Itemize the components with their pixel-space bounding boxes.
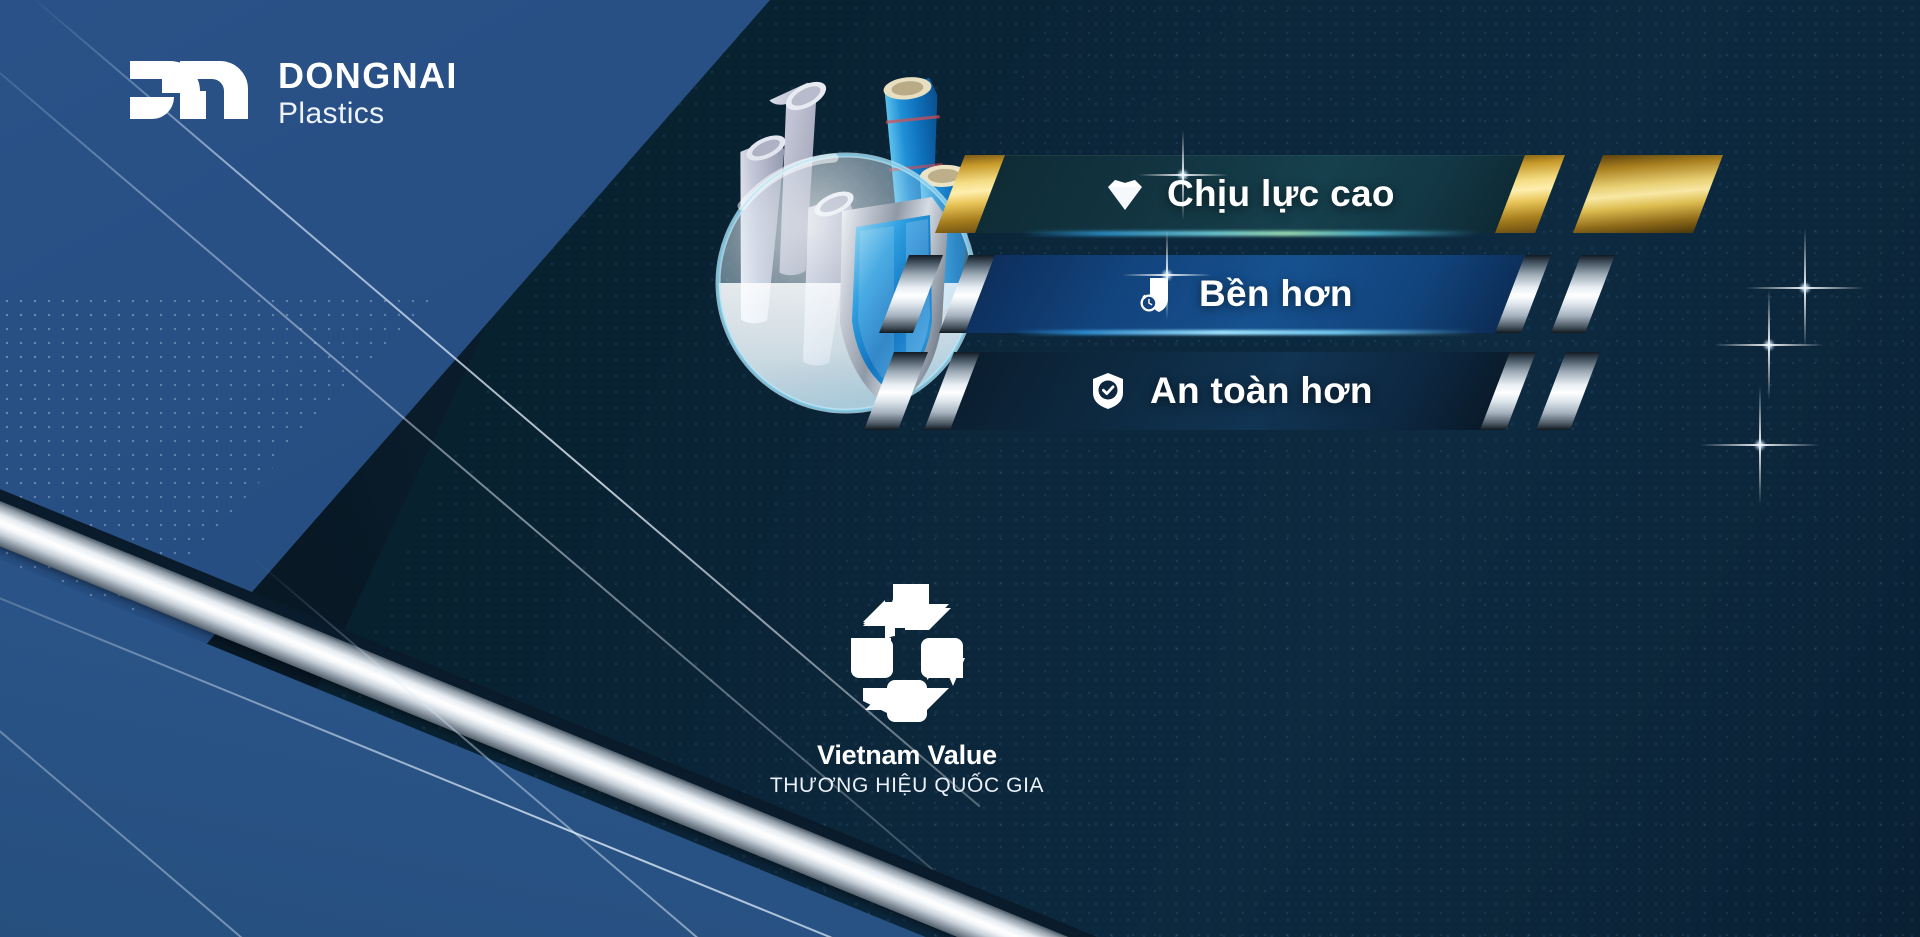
- feature-banner-chiu-luc-cao[interactable]: Chịu lực cao: [990, 155, 1510, 233]
- brand-tagline: Plastics: [278, 99, 458, 129]
- award-subtitle: THƯƠNG HIỆU QUỐC GIA: [757, 774, 1057, 798]
- vietnam-value-pinwheel-icon: [827, 582, 987, 734]
- feature-label: Bền hơn: [1199, 273, 1353, 315]
- feature-banner-body: Bền hơn: [965, 255, 1525, 333]
- banner-stage: DONGNAI Plastics: [0, 0, 1920, 937]
- feature-banner-body: Chịu lực cao: [975, 155, 1525, 233]
- diamond-icon: [1105, 174, 1145, 214]
- feature-banner-ben-hon[interactable]: Bền hơn: [980, 255, 1510, 333]
- brand-wordmark: DONGNAI Plastics: [278, 58, 458, 129]
- shield-clock-icon: [1137, 274, 1177, 314]
- banner-underglow: [1013, 330, 1477, 335]
- shield-check-icon: [1088, 371, 1128, 411]
- feature-label: An toàn hơn: [1150, 370, 1373, 412]
- brand-name: DONGNAI: [278, 58, 458, 94]
- award-name: Vietnam Value: [757, 740, 1057, 771]
- vietnam-value-award: Vietnam Value THƯƠNG HIỆU QUỐC GIA: [757, 582, 1057, 798]
- feature-banner-an-toan-hon[interactable]: An toàn hơn: [965, 352, 1495, 430]
- feature-banner-body: An toàn hơn: [950, 352, 1510, 430]
- brand-logo[interactable]: DONGNAI Plastics: [128, 58, 458, 129]
- dongnai-monogram-icon: [128, 59, 250, 129]
- feature-label: Chịu lực cao: [1167, 173, 1395, 215]
- banner-underglow: [1019, 231, 1481, 236]
